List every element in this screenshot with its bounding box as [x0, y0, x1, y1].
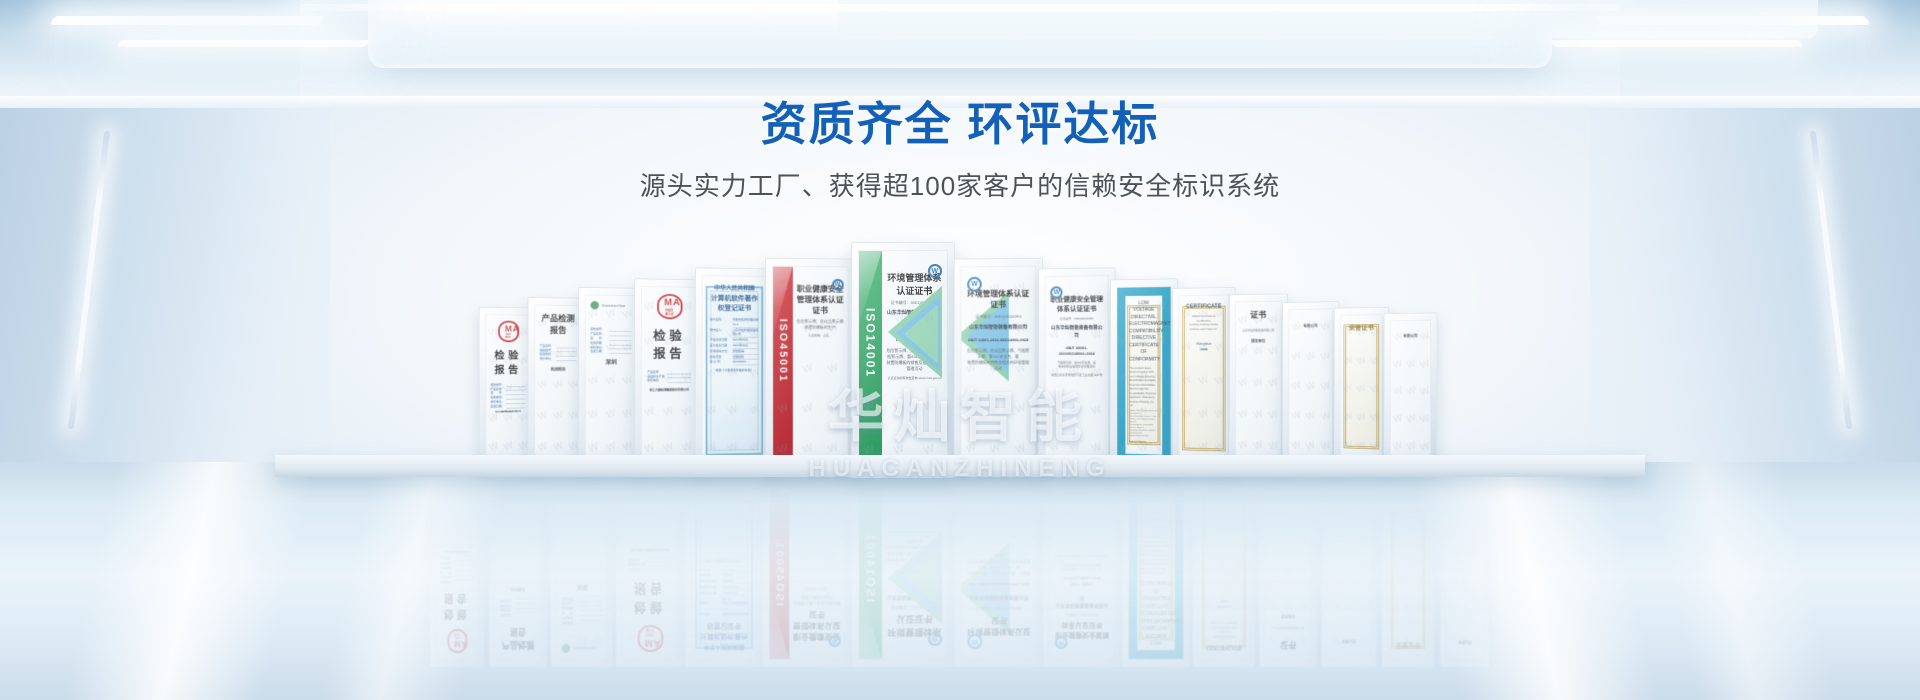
cert-scope: 危险警示牌、危化品警示牌、气瓶警示牌、氨931安全色、氨装置防爆板的销售及相关的…: [967, 348, 1030, 372]
cert-field: 签发日期：: [590, 350, 631, 354]
cert-footer: 中国山东省济南市历下区工业北路 189 号: [1050, 373, 1103, 378]
cert-field: 软件名称：智能告知牌管理系统 V1.0: [710, 317, 759, 327]
cert-field-key: 著作权人：: [710, 328, 733, 338]
cert-field-value: [668, 378, 692, 383]
cert-body-line: Applicant: Shandong Huacan Zhineng Co., …: [1129, 395, 1158, 408]
certificate-sheet: 证书山东华灿智能装备有限公司颁发单位WWWWWWWWWWWWWWW: [1235, 301, 1281, 461]
cert-footer: 根据《计算机软件保护条例》: [710, 368, 759, 373]
cert-body-line: 装置防爆板的生产: [796, 325, 844, 331]
cert-body-line: LOW VOLTAGE DIRECTIVE,: [1129, 300, 1158, 321]
cert-footer: 颁发单位: [1240, 338, 1276, 344]
certificate-sheet: CERTIFICATEUDEM International Certificat…: [1179, 294, 1230, 462]
cert-body-text: 山东华灿智能装备有限公司: [1240, 328, 1276, 332]
ma-certification-icon: MA中国计量认证: [498, 320, 519, 342]
cert-field-value: [507, 404, 526, 409]
certificate-sheet: 有限公司WWWWWWWWWWWWWWW: [1390, 320, 1431, 459]
cert-body: 有限公司: [1289, 309, 1332, 459]
cert-field: 登 记 号：2023SR07...: [710, 360, 759, 366]
cert-body: LOW VOLTAGE DIRECTIVE,ELECTROMAGNETIC CO…: [1125, 296, 1162, 455]
leaf-icon: [590, 301, 598, 309]
cert-field: 著作权人：山东华灿智能装备有限公司: [710, 328, 759, 338]
chevron-light-icon: [904, 304, 938, 364]
cert-body: 有限公司: [1391, 321, 1431, 458]
cert-field-key: 委托单位: [647, 379, 667, 384]
cert-field-key: 登 记 号：: [710, 360, 733, 366]
cnas-seal-icon: W: [832, 279, 844, 291]
cert-chevron-art: [882, 251, 947, 470]
cert-body: 证书山东华灿智能装备有限公司颁发单位: [1236, 302, 1281, 460]
cert-body-line: 山东华灿智能装备有限公司: [1240, 328, 1276, 332]
cert-subtitle: 计算机软件著作权登记证书: [710, 294, 759, 314]
cert-report-no: Report No.: HCZN-CE0-P02: [1129, 444, 1158, 447]
cert-body-line: 危险警示牌、危化品警示牌、气瓶警示牌、氨931安全色、氨: [967, 348, 1030, 360]
display-podium: [275, 455, 1645, 477]
cert-spine-label: ISO45001: [777, 319, 789, 383]
certificate-card[interactable]: W职业健康安全管理体系认证证书证书编号：00EQ00Q00R5山东华灿智能装备有…: [1038, 267, 1115, 473]
cert-body-line: ELECTROMAGNETIC COMPATIBILITY DIRECTIVE: [1129, 321, 1158, 342]
certificate-gallery: MA中国计量认证检验报告报告编号：产品名称：型 号：检验类别：委托单位：签发日期…: [0, 228, 1920, 478]
cert-field-value: 山东华灿智能装备有限公司: [733, 328, 760, 338]
certificate-card[interactable]: 有限公司WWWWWWWWWWWWWWW: [1282, 301, 1339, 467]
ceiling-light-strip-center: [300, 4, 1620, 11]
cert-body: MA中国计量认证检验报告产品名称检验所生产者委托单位浙江方圆检测集团股份有限公司: [642, 287, 697, 463]
cert-field-value: 2023SR07...: [733, 360, 760, 366]
cert-body-line: 相关的职业健康安全管理活动: [1050, 365, 1103, 369]
cert-footer: 深圳: [590, 359, 631, 368]
cert-field: 委托单位: [647, 378, 691, 383]
headline-block: 资质齐全 环评达标 源头实力工厂、获得超100家客户的信赖安全标识系统: [0, 96, 1920, 203]
cert-body-line: Auditing Training Centre Industry and Tr…: [1185, 323, 1222, 332]
certificate-sheet: ShenzhenTest报告编号：产品名称：型 号：检测周期：委托单位：签发日期…: [585, 294, 637, 462]
showroom-floor: [0, 462, 1920, 700]
cert-teal-frame: LOW VOLTAGE DIRECTIVE,ELECTROMAGNETIC CO…: [1117, 287, 1170, 463]
certificate-card[interactable]: 有限公司WWWWWWWWWWWWWWW: [1384, 312, 1438, 465]
certificate-sheet: 中华人民共和国计算机软件著作权登记证书软件名称：智能告知牌管理系统 V1.0著作…: [702, 275, 767, 466]
certificate-sheet: LOW VOLTAGE DIRECTIVE,ELECTROMAGNETIC CO…: [1116, 286, 1171, 464]
cert-field-list: 产品名称检验所生产者委托单位: [647, 370, 691, 384]
cert-body: ShenzhenTest报告编号：产品名称：型 号：检测周期：委托单位：签发日期…: [586, 295, 636, 461]
cert-body-line: 装置防爆板的销售及相关的环境管理活动: [967, 360, 1030, 372]
certificate-sheet: 产品检测报告产品名称：规格型号：检验类别：委托单位：检测报告WWWWWWWWWW…: [534, 304, 582, 461]
cert-footer: UDEM: [1185, 348, 1222, 352]
cert-number: 证书编号：00EQ00Q00R5: [967, 313, 1030, 319]
cert-field-key: 签发日期：: [590, 350, 609, 354]
cert-body: W职业健康安全管理体系认证证书证书编号：00EQ00Q00R5山东华灿智能装备有…: [1046, 276, 1108, 465]
floor-reflection-highlights: [0, 462, 1920, 700]
cert-title: 中华人民共和国: [710, 283, 759, 292]
certificate-sheet: MA中国计量认证检验报告报告编号：产品名称：型 号：检验类别：委托单位：签发日期…: [485, 314, 531, 460]
ma-certification-sub: 中国计量认证: [505, 333, 511, 338]
cert-body-text: The product listed below complies with L…: [1129, 366, 1158, 408]
cert-field-value: [557, 357, 577, 361]
certificate-card[interactable]: 中华人民共和国计算机软件著作权登记证书软件名称：智能告知牌管理系统 V1.0著作…: [695, 267, 774, 473]
certificate-card[interactable]: CERTIFICATEUDEM International Certificat…: [1172, 287, 1235, 470]
shenzhen-logo-icon: ShenzhenTest: [590, 301, 631, 310]
cert-spine: ISO45001: [773, 267, 792, 468]
cert-body-line: 2014/35/EU and EMC Directive 2014/30/EU …: [1129, 379, 1158, 392]
certificate-sheet: ISO45001W职业健康安全管理体系认证证书危险警示牌、危化品警示牌装置防爆板…: [772, 266, 848, 469]
cert-body: W环境管理体系认证证书证书编号：00EQ00Q00R5山东华灿智能装备有限公司G…: [882, 251, 947, 470]
cert-body-line: CERTIFICATE OF CONFORMITY: [1129, 342, 1158, 363]
ceiling: [0, 0, 1920, 108]
cert-field: 委托单位：: [540, 357, 577, 361]
cert-body-line: UDEM International Certification: [1185, 314, 1222, 323]
cert-field-value: 智能告知牌管理系统 V1.0: [733, 318, 760, 328]
cert-body: W职业健康安全管理体系认证证书危险警示牌、危化品警示牌装置防爆板的生产认证机构：…: [793, 267, 848, 468]
cert-body-text: UDEM International CertificationAuditing…: [1185, 314, 1222, 331]
cert-scope: 气瓶警示牌、氨931安全色、氨相关的职业健康安全管理活动: [1050, 360, 1103, 369]
cert-spine: ISO14001: [859, 251, 882, 470]
certificate-card[interactable]: ISO45001W职业健康安全管理体系认证证书危险警示牌、危化品警示牌装置防爆板…: [765, 258, 855, 476]
cert-spine-label: ISO14001: [863, 308, 877, 378]
ceiling-light-strip-right-1: [1595, 16, 1871, 25]
cert-body: 中华人民共和国计算机软件著作权登记证书软件名称：智能告知牌管理系统 V1.0著作…: [703, 276, 766, 465]
cert-meta-text: Address: No. 189 Huanong Road, Lixia Dis…: [1129, 410, 1158, 439]
certificate-sheet: MA中国计量认证检验报告产品名称检验所生产者委托单位浙江方圆检测集团股份有限公司…: [641, 286, 698, 464]
ma-certification-icon: MA中国计量认证: [657, 294, 682, 320]
cert-footer: 认证机构：山东…: [796, 333, 844, 338]
ceiling-light-strip-left-1: [49, 16, 325, 25]
cert-standard: GB/T 45001-2020/ISO45001:2018: [1050, 345, 1103, 357]
cert-title: 检验报告: [647, 326, 691, 362]
certificate-sheet: W环境管理体系认证证书证书编号：00EQ00Q00R5山东华灿智能装备有限公司G…: [960, 266, 1036, 469]
cert-title: 证书: [1240, 308, 1276, 320]
cert-title: 检验报告: [491, 347, 526, 376]
ceiling-light-strip-right-2: [1550, 40, 1805, 47]
cert-footer: 浙江方圆检测集团股份有限公司: [491, 411, 526, 414]
cert-title: 荣誉证书: [1346, 323, 1377, 332]
ceiling-light-strip-left-2: [116, 40, 371, 47]
cert-field-value: [609, 350, 631, 354]
banner-subtitle: 源头实力工厂、获得超100家客户的信赖安全标识系统: [0, 166, 1920, 203]
cert-body: MA中国计量认证检验报告报告编号：产品名称：型 号：检验类别：委托单位：签发日期…: [486, 315, 530, 459]
certificate-hero-banner: 资质齐全 环评达标 源头实力工厂、获得超100家客户的信赖安全标识系统 MA中国…: [0, 0, 1920, 700]
cert-field-key: 委托单位：: [540, 357, 557, 361]
cert-body: 荣誉证书: [1341, 315, 1382, 458]
cert-body: CERTIFICATEUDEM International Certificat…: [1179, 295, 1228, 461]
cert-meta-line: EN IEC 61000-6-3:2021: [1129, 436, 1158, 439]
cert-footer: 检测报告: [540, 367, 577, 373]
cert-body-line: The product listed below complies with L…: [1129, 366, 1158, 379]
certificate-sheet: ISO14001W环境管理体系认证证书证书编号：00EQ00Q00R5山东华灿智…: [858, 250, 948, 471]
cert-field-key: 签发日期：: [491, 404, 507, 409]
certificate-card[interactable]: MA中国计量认证检验报告产品名称检验所生产者委托单位浙江方圆检测集团股份有限公司…: [634, 278, 704, 471]
certificate-card[interactable]: W环境管理体系认证证书证书编号：00EQ00Q00R5山东华灿智能装备有限公司G…: [954, 258, 1043, 476]
cert-field: 签发日期：: [491, 404, 526, 409]
cert-standard: GB/T 24001-2016 /ISO14001:2015: [967, 337, 1030, 343]
cert-title: 产品检测报告: [540, 312, 577, 336]
certificate-sheet: 荣誉证书WWWWWWWWWWWWWWW: [1340, 314, 1383, 459]
cert-number: 证书编号：00EQ00Q00R5: [1050, 317, 1103, 322]
certificate-sheet: 有限公司WWWWWWWWWWWWWWW: [1288, 309, 1333, 461]
certificate-sheet: W职业健康安全管理体系认证证书证书编号：00EQ00Q00R5山东华灿智能装备有…: [1045, 275, 1109, 466]
cert-field-list: 报告编号：产品名称：型 号：检测周期：委托单位：签发日期：: [590, 327, 631, 354]
shenzhen-logo-label: ShenzhenTest: [602, 303, 626, 308]
certificate-card[interactable]: ISO14001W环境管理体系认证证书证书编号：00EQ00Q00R5山东华灿智…: [851, 242, 955, 478]
cert-footer: 有限公司: [1395, 333, 1427, 339]
banner-title: 资质齐全 环评达标: [0, 96, 1920, 154]
cert-scope: 危险警示牌、危化品警示牌装置防爆板的生产: [796, 319, 844, 331]
cert-footer: 浙江方圆检测集团股份有限公司: [647, 387, 691, 392]
cert-body: W环境管理体系认证证书证书编号：00EQ00Q00R5山东华灿智能装备有限公司G…: [961, 267, 1035, 468]
ma-certification-sub: 中国计量认证: [664, 308, 674, 316]
cnas-seal-icon: W: [928, 264, 942, 278]
cert-body: 产品检测报告产品名称：规格型号：检验类别：委托单位：检测报告: [535, 305, 581, 460]
cert-field-list: 软件名称：智能告知牌管理系统 V1.0著作权人：山东华灿智能装备有限公司开发完成…: [710, 317, 759, 365]
cert-title: CERTIFICATE: [1185, 303, 1222, 309]
cert-field-list: 报告编号：产品名称：型 号：检验类别：委托单位：签发日期：: [491, 382, 526, 408]
certificate-card[interactable]: 证书山东华灿智能装备有限公司颁发单位WWWWWWWWWWWWWWW: [1229, 293, 1288, 467]
certificate-card[interactable]: 荣誉证书WWWWWWWWWWWWWWW: [1334, 307, 1389, 466]
cert-field-key: 软件名称：: [710, 317, 733, 327]
cert-signature: Wanghua: [1185, 341, 1222, 346]
cert-teal-inner: LOW VOLTAGE DIRECTIVE,ELECTROMAGNETIC CO…: [1125, 296, 1162, 455]
cert-field-list: 产品名称：规格型号：检验类别：委托单位：: [540, 344, 577, 362]
certificate-card[interactable]: LOW VOLTAGE DIRECTIVE,ELECTROMAGNETIC CO…: [1110, 278, 1178, 471]
cert-footer: 有限公司: [1293, 323, 1327, 329]
cert-company: 山东华灿智能装备有限公司: [1050, 326, 1103, 341]
cert-company: 山东华灿智能装备有限公司: [967, 325, 1030, 333]
